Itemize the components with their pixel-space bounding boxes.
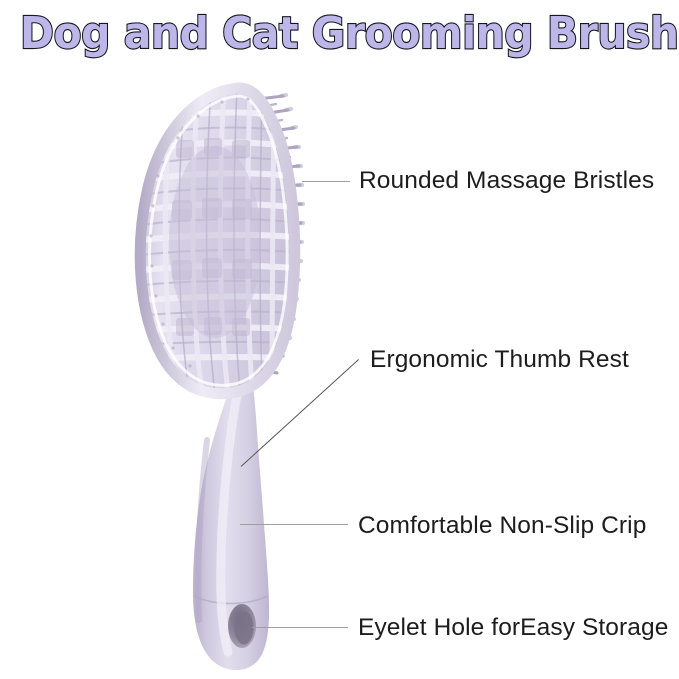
eyelet-hole-inner bbox=[235, 612, 254, 645]
feature-label-bristles: Rounded Massage Bristles bbox=[359, 167, 654, 195]
leader-line-grip bbox=[240, 524, 348, 525]
product-illustration bbox=[0, 0, 679, 679]
leader-line-bristles bbox=[302, 181, 350, 182]
feature-label-grip: Comfortable Non-Slip Crip bbox=[358, 512, 646, 540]
leader-line-eyelet bbox=[252, 627, 348, 628]
infographic-canvas: Dog and Cat Grooming Brush bbox=[0, 0, 679, 679]
feature-label-eyelet: Eyelet Hole forEasy Storage bbox=[358, 614, 668, 642]
feature-label-thumb-rest: Ergonomic Thumb Rest bbox=[370, 346, 629, 374]
